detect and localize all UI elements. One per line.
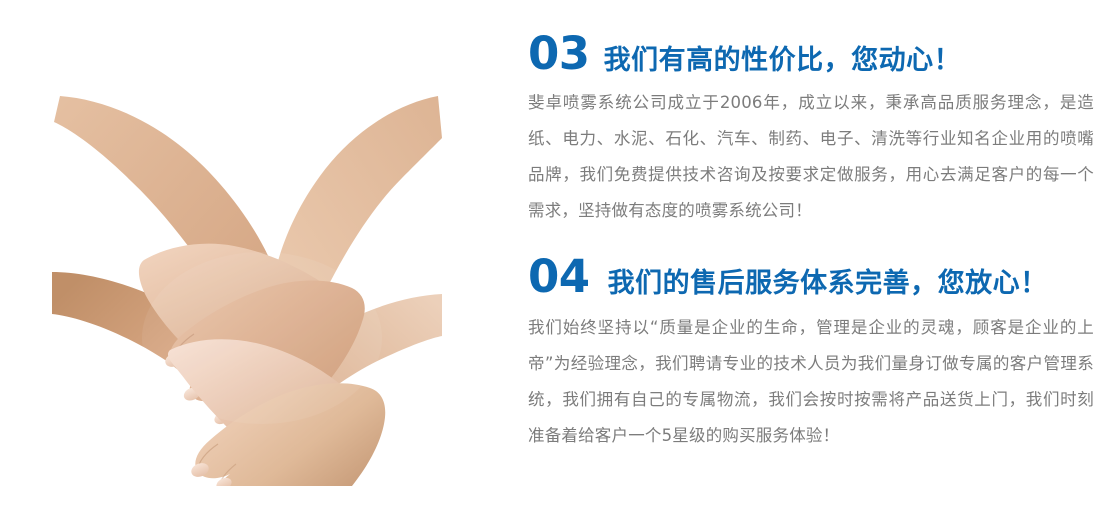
content-pane: 03 我们有高的性价比，您动心！ 斐卓喷雾系统公司成立于2006年，成立以来，秉… <box>500 0 1108 513</box>
promo-banner: 03 我们有高的性价比，您动心！ 斐卓喷雾系统公司成立于2006年，成立以来，秉… <box>0 0 1108 513</box>
section-03-number: 03 <box>528 30 590 77</box>
advantage-section-03: 03 我们有高的性价比，您动心！ 斐卓喷雾系统公司成立于2006年，成立以来，秉… <box>528 30 1108 229</box>
section-04-heading: 04 我们的售后服务体系完善，您放心！ <box>528 253 1108 300</box>
section-04-body: 我们始终坚持以“质量是企业的生命，管理是企业的灵魂，顾客是企业的上帝”为经验理念… <box>528 310 1094 454</box>
advantage-section-04: 04 我们的售后服务体系完善，您放心！ 我们始终坚持以“质量是企业的生命，管理是… <box>528 253 1108 454</box>
section-03-heading: 03 我们有高的性价比，您动心！ <box>528 30 1108 77</box>
section-04-title: 我们的售后服务体系完善，您放心！ <box>608 269 1048 299</box>
stacked-hands-photo <box>52 88 442 486</box>
photo-pane <box>0 0 500 513</box>
section-04-number: 04 <box>528 253 590 300</box>
section-03-body: 斐卓喷雾系统公司成立于2006年，成立以来，秉承高品质服务理念，是造纸、电力、水… <box>528 85 1094 229</box>
section-03-title: 我们有高的性价比，您动心！ <box>604 46 962 76</box>
